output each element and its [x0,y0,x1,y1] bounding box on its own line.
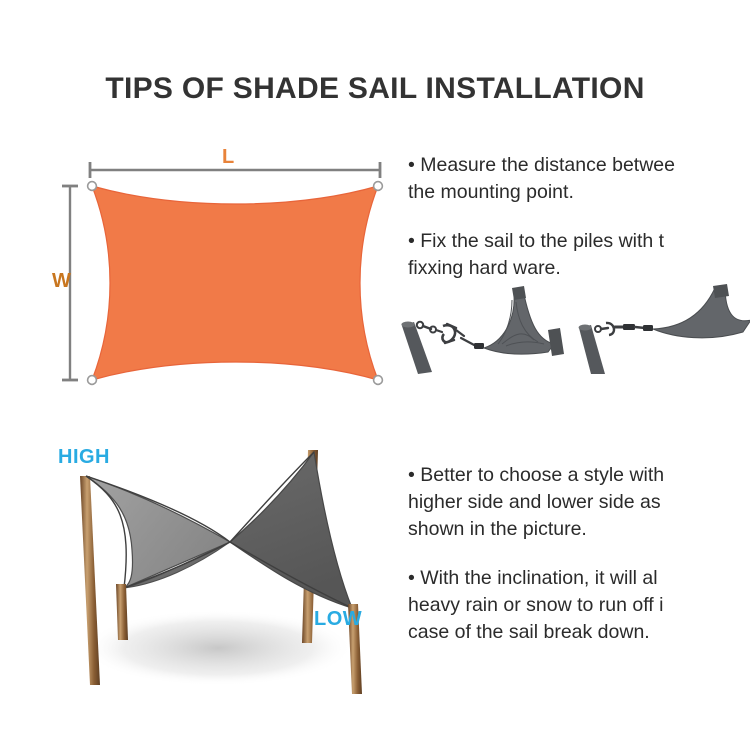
hardware-illustration-left [398,286,583,374]
orange-sail-shape [92,186,378,380]
page-title: TIPS OF SHADE SAIL INSTALLATION [0,72,750,106]
turnbuckle-hardware-icon [417,322,484,349]
tip-fix-sail: • Fix the sail to the piles with t fixxi… [408,228,750,282]
sail-dimension-diagram [48,148,393,398]
infographic-page: TIPS OF SHADE SAIL INSTALLATION [0,0,750,750]
hardware-left-svg [398,286,583,374]
low-side-label: LOW [314,608,362,631]
mounting-pole-icon [579,325,605,375]
canopy-svg [18,438,413,703]
canopy-sail-light [86,476,230,588]
length-label-L: L [222,146,234,169]
pole-front-left [116,584,128,640]
tip-measure: • Measure the distance betwee the mounti… [408,152,750,206]
high-side-label: HIGH [58,446,110,469]
tip-inclination: • With the inclination, it will al heavy… [408,565,750,646]
sail-dimension-svg [48,148,393,398]
tips-top-column: • Measure the distance betwee the mounti… [408,152,750,282]
tip-style: • Better to choose a style with higher s… [408,462,750,543]
tips-bottom-column: • Better to choose a style with higher s… [408,462,750,645]
mounting-pole-icon [401,322,432,375]
canopy-illustration [18,438,413,703]
pole-back-left [80,476,100,685]
hardware-illustration-right [565,284,750,374]
hardware-right-svg [565,284,750,374]
shackle-hardware-icon [595,323,653,335]
width-label-W: W [52,270,71,293]
sail-corner-panel-icon [653,284,750,338]
length-dimension-line [90,162,380,178]
sail-corner-panel-icon [484,286,564,356]
